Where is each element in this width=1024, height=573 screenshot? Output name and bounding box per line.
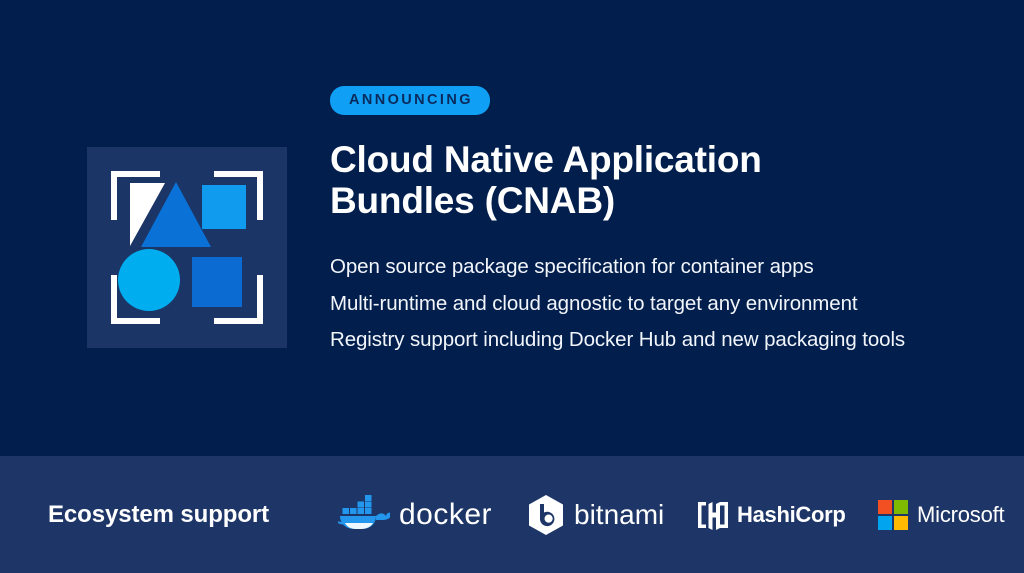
partner-logo-hashicorp: HashiCorp [698, 493, 846, 537]
announcement-slide: ANNOUNCING Cloud Native Application Bund… [0, 0, 1024, 573]
list-item: Multi-runtime and cloud agnostic to targ… [330, 286, 990, 322]
partner-name-docker: docker [399, 498, 492, 532]
partner-name-microsoft: Microsoft [917, 502, 1004, 528]
ecosystem-support-bar: Ecosystem support docker [0, 456, 1024, 573]
cnab-bundle-icon-art [87, 147, 287, 348]
microsoft-square-top-right [894, 500, 908, 514]
partner-name-bitnami: bitnami [574, 499, 664, 531]
hero-content: ANNOUNCING Cloud Native Application Bund… [330, 86, 990, 359]
hero-section: ANNOUNCING Cloud Native Application Bund… [0, 0, 1024, 456]
bitnami-hexagon-icon [527, 494, 565, 536]
microsoft-square-top-left [878, 500, 892, 514]
square-bottom-right-shape [192, 257, 242, 307]
microsoft-square-bottom-right [894, 516, 908, 530]
announcing-badge: ANNOUNCING [330, 86, 490, 115]
ecosystem-support-label: Ecosystem support [48, 501, 269, 529]
list-item: Registry support including Docker Hub an… [330, 322, 990, 358]
feature-list: Open source package specification for co… [330, 249, 990, 358]
partner-logo-bitnami: bitnami [527, 493, 664, 537]
microsoft-square-bottom-left [878, 516, 892, 530]
partner-name-hashicorp: HashiCorp [737, 502, 846, 528]
partner-logo-docker: docker [338, 493, 492, 537]
hashicorp-h-icon [698, 499, 728, 531]
microsoft-squares-icon [878, 500, 908, 530]
partner-logo-microsoft: Microsoft [878, 493, 1004, 537]
page-title: Cloud Native Application Bundles (CNAB) [330, 139, 800, 223]
circle-shape [118, 249, 180, 311]
cnab-bundle-icon [87, 147, 287, 348]
docker-whale-icon [338, 495, 390, 535]
list-item: Open source package specification for co… [330, 249, 990, 285]
square-top-right-shape [202, 185, 246, 229]
